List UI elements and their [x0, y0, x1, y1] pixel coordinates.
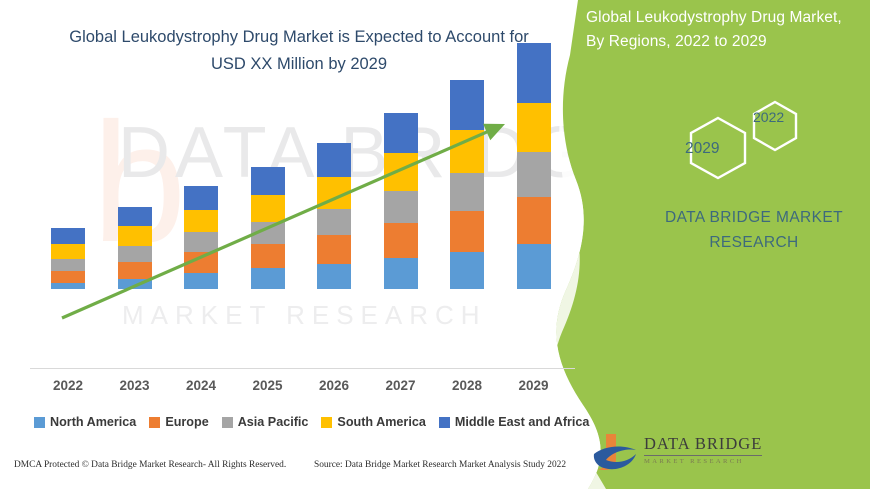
- bar-segment-north-america-2025[interactable]: [251, 268, 285, 289]
- bar-segment-south-america-2025[interactable]: [251, 195, 285, 222]
- legend-swatch-middle-east-and-africa: [439, 417, 450, 428]
- logo-glyph-icon: [592, 430, 644, 476]
- bar-segment-europe-2023[interactable]: [118, 262, 152, 278]
- bar-segment-south-america-2028[interactable]: [450, 130, 484, 173]
- bar-segment-asia-pacific-2029[interactable]: [517, 152, 551, 197]
- legend-label-south-america: South America: [337, 415, 425, 429]
- footer-dmca: DMCA Protected © Data Bridge Market Rese…: [14, 460, 286, 470]
- x-axis-label-2024: 2024: [166, 378, 236, 393]
- bar-2023[interactable]: [118, 207, 152, 289]
- bar-segment-europe-2024[interactable]: [184, 252, 218, 273]
- bar-segment-middle-east-and-africa-2024[interactable]: [184, 186, 218, 210]
- bar-segment-asia-pacific-2022[interactable]: [51, 259, 85, 271]
- bar-segment-north-america-2023[interactable]: [118, 279, 152, 289]
- bar-segment-europe-2027[interactable]: [384, 223, 418, 257]
- bar-2024[interactable]: [184, 186, 218, 289]
- legend-item-middle-east-and-africa[interactable]: Middle East and Africa: [439, 415, 590, 429]
- bar-segment-europe-2025[interactable]: [251, 244, 285, 268]
- x-axis-label-2028: 2028: [432, 378, 502, 393]
- footer: DMCA Protected © Data Bridge Market Rese…: [0, 455, 600, 489]
- bar-segment-north-america-2026[interactable]: [317, 264, 351, 289]
- panel-title: Global Leukodystrophy Drug Market, By Re…: [586, 6, 864, 54]
- bar-segment-south-america-2027[interactable]: [384, 153, 418, 190]
- footer-source: Source: Data Bridge Market Research Mark…: [314, 460, 566, 470]
- brand-name-line1: DATA BRIDGE MARKET: [640, 205, 868, 230]
- legend-label-europe: Europe: [165, 415, 208, 429]
- bar-segment-north-america-2024[interactable]: [184, 273, 218, 289]
- company-logo: DATA BRIDGE MARKET RESEARCH: [592, 430, 792, 478]
- x-axis-label-2027: 2027: [366, 378, 436, 393]
- hexagon-label-2029: 2029: [685, 140, 719, 158]
- legend-swatch-north-america: [34, 417, 45, 428]
- logo-text: DATA BRIDGE MARKET RESEARCH: [644, 434, 762, 465]
- bar-segment-south-america-2029[interactable]: [517, 103, 551, 152]
- x-axis-label-2022: 2022: [33, 378, 103, 393]
- bar-segment-middle-east-and-africa-2023[interactable]: [118, 207, 152, 226]
- bar-segment-asia-pacific-2026[interactable]: [317, 209, 351, 236]
- x-axis-label-2025: 2025: [233, 378, 303, 393]
- x-axis-label-2026: 2026: [299, 378, 369, 393]
- panel-title-line2: By Regions, 2022 to 2029: [586, 30, 864, 54]
- bar-segment-south-america-2024[interactable]: [184, 210, 218, 232]
- bar-segment-north-america-2027[interactable]: [384, 258, 418, 289]
- bar-segment-north-america-2029[interactable]: [517, 244, 551, 289]
- hexagon-label-2022: 2022: [753, 109, 784, 125]
- x-axis-label-2023: 2023: [100, 378, 170, 393]
- bar-2028[interactable]: [450, 80, 484, 289]
- brand-name-line2: RESEARCH: [640, 230, 868, 255]
- bar-2025[interactable]: [251, 167, 285, 289]
- bar-segment-asia-pacific-2024[interactable]: [184, 232, 218, 251]
- bar-segment-middle-east-and-africa-2028[interactable]: [450, 80, 484, 129]
- chart-legend: North AmericaEuropeAsia PacificSouth Ame…: [34, 415, 589, 429]
- bar-segment-middle-east-and-africa-2022[interactable]: [51, 228, 85, 244]
- chart-baseline: [30, 368, 575, 369]
- x-axis-label-2029: 2029: [499, 378, 569, 393]
- legend-swatch-europe: [149, 417, 160, 428]
- bar-segment-middle-east-and-africa-2027[interactable]: [384, 113, 418, 153]
- bar-segment-europe-2022[interactable]: [51, 271, 85, 283]
- bar-2022[interactable]: [51, 228, 85, 289]
- panel-title-line1: Global Leukodystrophy Drug Market,: [586, 6, 864, 30]
- bar-segment-europe-2026[interactable]: [317, 235, 351, 263]
- legend-item-europe[interactable]: Europe: [149, 415, 208, 429]
- legend-item-south-america[interactable]: South America: [321, 415, 425, 429]
- legend-swatch-asia-pacific: [222, 417, 233, 428]
- bar-segment-asia-pacific-2025[interactable]: [251, 222, 285, 244]
- hexagon-labels: 2029 2022: [660, 96, 870, 206]
- bar-segment-europe-2029[interactable]: [517, 197, 551, 245]
- bar-segment-middle-east-and-africa-2029[interactable]: [517, 43, 551, 103]
- infographic-page: b DATA BRIDGE MARKET RESEARCH Global Leu…: [0, 0, 870, 489]
- bar-segment-asia-pacific-2028[interactable]: [450, 173, 484, 212]
- bar-segment-europe-2028[interactable]: [450, 211, 484, 251]
- chart-plot-area: 20222023202420252026202720282029: [0, 0, 600, 410]
- bar-segment-middle-east-and-africa-2025[interactable]: [251, 167, 285, 195]
- bar-segment-south-america-2023[interactable]: [118, 226, 152, 245]
- bar-segment-north-america-2022[interactable]: [51, 283, 85, 289]
- legend-label-north-america: North America: [50, 415, 136, 429]
- bar-segment-asia-pacific-2023[interactable]: [118, 246, 152, 262]
- legend-item-asia-pacific[interactable]: Asia Pacific: [222, 415, 309, 429]
- bar-2029[interactable]: [517, 43, 551, 289]
- logo-sub: MARKET RESEARCH: [644, 458, 762, 465]
- bar-segment-south-america-2022[interactable]: [51, 244, 85, 259]
- bar-2026[interactable]: [317, 143, 351, 289]
- bar-segment-asia-pacific-2027[interactable]: [384, 191, 418, 224]
- legend-label-asia-pacific: Asia Pacific: [238, 415, 309, 429]
- bar-2027[interactable]: [384, 113, 418, 289]
- legend-swatch-south-america: [321, 417, 332, 428]
- bar-segment-south-america-2026[interactable]: [317, 177, 351, 208]
- brand-name: DATA BRIDGE MARKET RESEARCH: [640, 205, 868, 255]
- bar-segment-north-america-2028[interactable]: [450, 252, 484, 289]
- legend-label-middle-east-and-africa: Middle East and Africa: [455, 415, 590, 429]
- legend-item-north-america[interactable]: North America: [34, 415, 136, 429]
- logo-main: DATA BRIDGE: [644, 434, 762, 456]
- bar-segment-middle-east-and-africa-2026[interactable]: [317, 143, 351, 177]
